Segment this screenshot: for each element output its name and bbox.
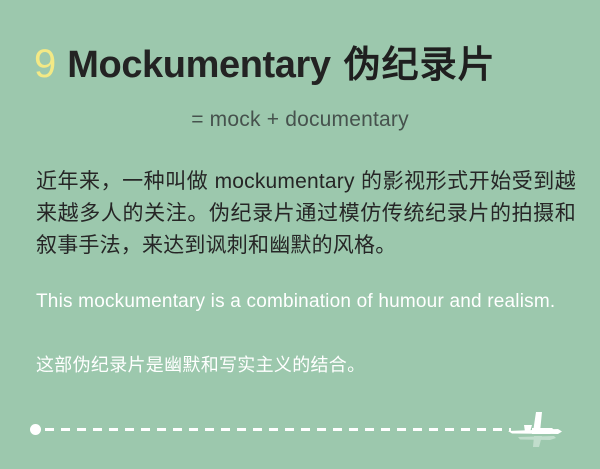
lesson-number: 9 <box>34 44 56 84</box>
example-sentence-english: This mockumentary is a combination of hu… <box>36 288 566 315</box>
title-chinese: 伪纪录片 <box>344 46 496 83</box>
title-row: 9 Mockumentary 伪纪录片 <box>34 44 496 84</box>
slide-container: 9 Mockumentary 伪纪录片 = mock + documentary… <box>0 0 600 469</box>
word-formula: = mock + documentary <box>0 108 600 132</box>
progress-dashed-line <box>45 428 511 431</box>
progress-start-dot <box>30 424 41 435</box>
progress-flight-path <box>0 412 600 452</box>
explanation-paragraph: 近年来，一种叫做 mockumentary 的影视形式开始受到越来越多人的关注。… <box>36 166 576 262</box>
airplane-icon <box>506 406 568 452</box>
title-english: Mockumentary <box>67 46 330 84</box>
example-sentence-chinese: 这部伪纪录片是幽默和写实主义的结合。 <box>36 352 566 378</box>
